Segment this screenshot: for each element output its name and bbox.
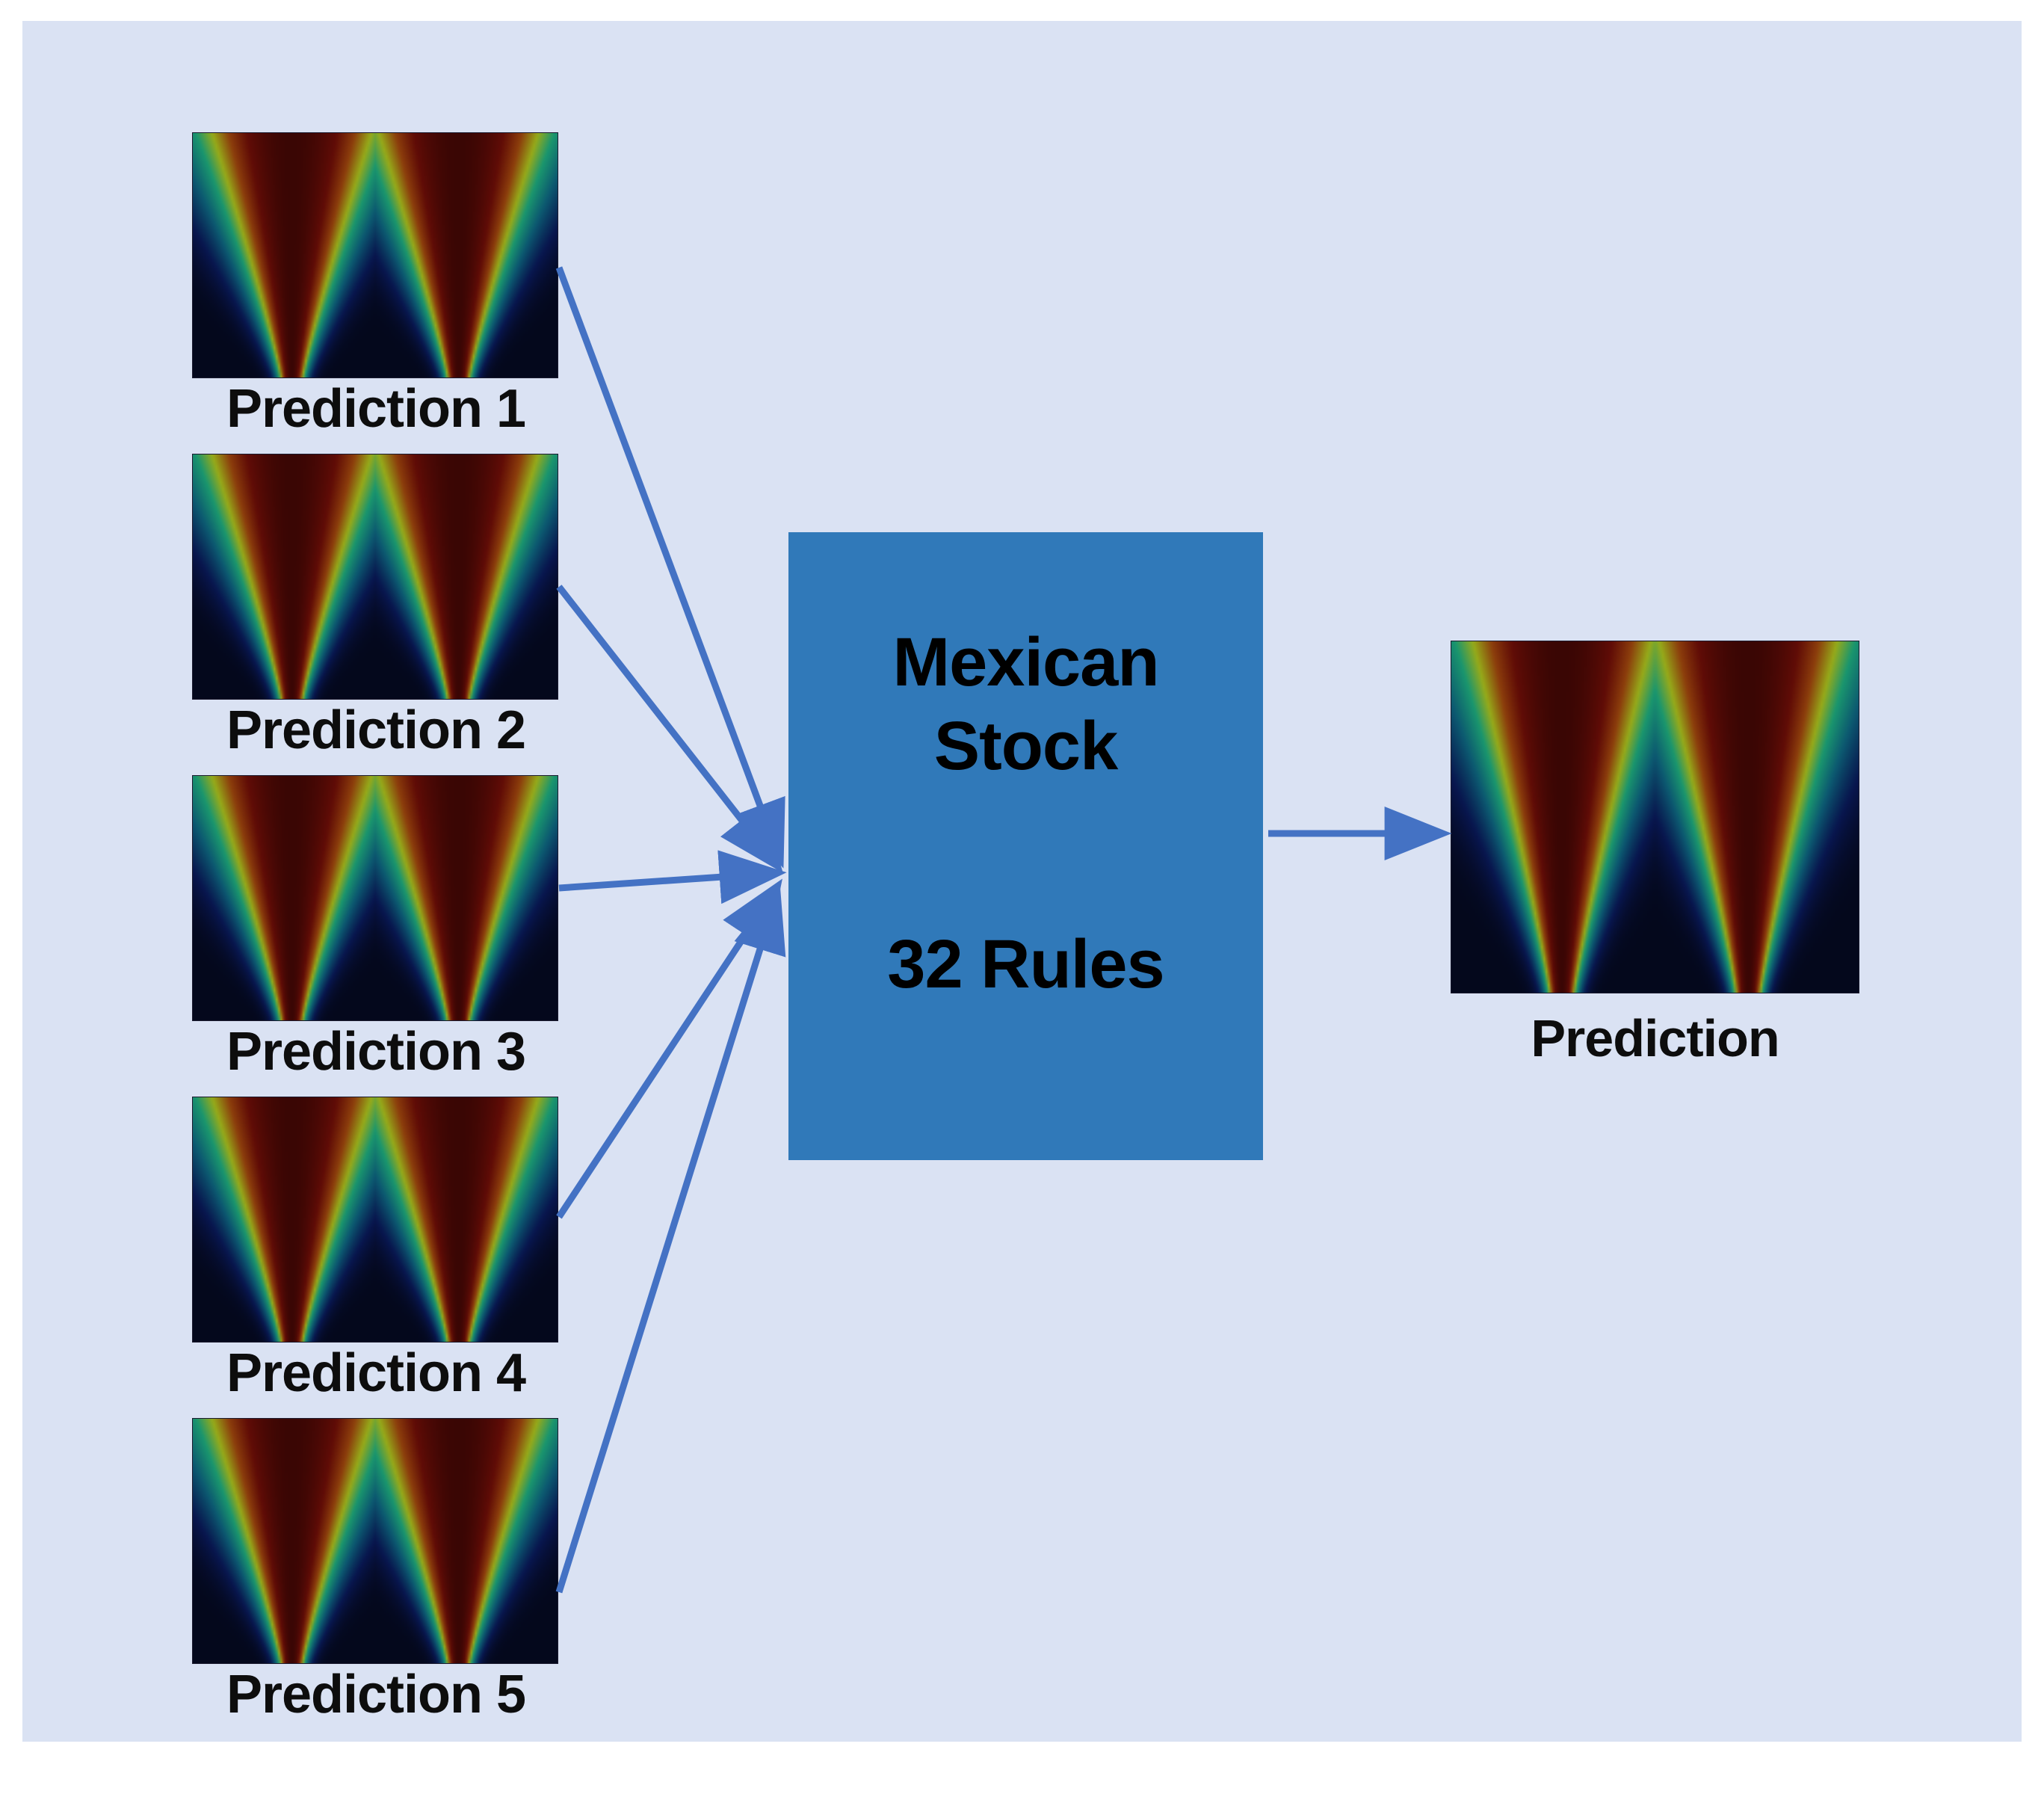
input-node-prediction-5[interactable]: Prediction 5 bbox=[193, 1419, 559, 1721]
input-label-prediction-3: Prediction 3 bbox=[193, 1025, 559, 1079]
fuzzy-membership-heatmap-1 bbox=[193, 133, 558, 377]
process-box-title-line-2: Stock bbox=[934, 704, 1118, 788]
input-node-prediction-2[interactable]: Prediction 2 bbox=[193, 454, 559, 757]
fuzzy-membership-heatmap-output bbox=[1451, 641, 1859, 993]
fuzzy-membership-heatmap-4 bbox=[193, 1097, 558, 1342]
fuzzy-membership-heatmap-2 bbox=[193, 454, 558, 699]
input-label-prediction-2: Prediction 2 bbox=[193, 703, 559, 757]
process-box-title-line-1: Mexican bbox=[892, 620, 1158, 704]
fuzzy-membership-heatmap-5 bbox=[193, 1419, 558, 1663]
input-label-prediction-4: Prediction 4 bbox=[193, 1346, 559, 1400]
diagram-canvas: Prediction 1 Prediction 2 Prediction 3 P… bbox=[0, 0, 2044, 1794]
process-box-rules-label: 32 Rules bbox=[887, 922, 1164, 1006]
input-node-prediction-4[interactable]: Prediction 4 bbox=[193, 1097, 559, 1400]
output-node-prediction[interactable]: Prediction bbox=[1451, 641, 1859, 1064]
process-box-mexican-stock[interactable]: Mexican Stock 32 Rules bbox=[788, 532, 1263, 1160]
input-label-prediction-5: Prediction 5 bbox=[193, 1668, 559, 1721]
input-label-prediction-1: Prediction 1 bbox=[193, 382, 559, 436]
input-node-prediction-3[interactable]: Prediction 3 bbox=[193, 776, 559, 1079]
input-node-prediction-1[interactable]: Prediction 1 bbox=[193, 133, 559, 436]
fuzzy-membership-heatmap-3 bbox=[193, 776, 558, 1020]
output-label-prediction: Prediction bbox=[1451, 1012, 1859, 1064]
